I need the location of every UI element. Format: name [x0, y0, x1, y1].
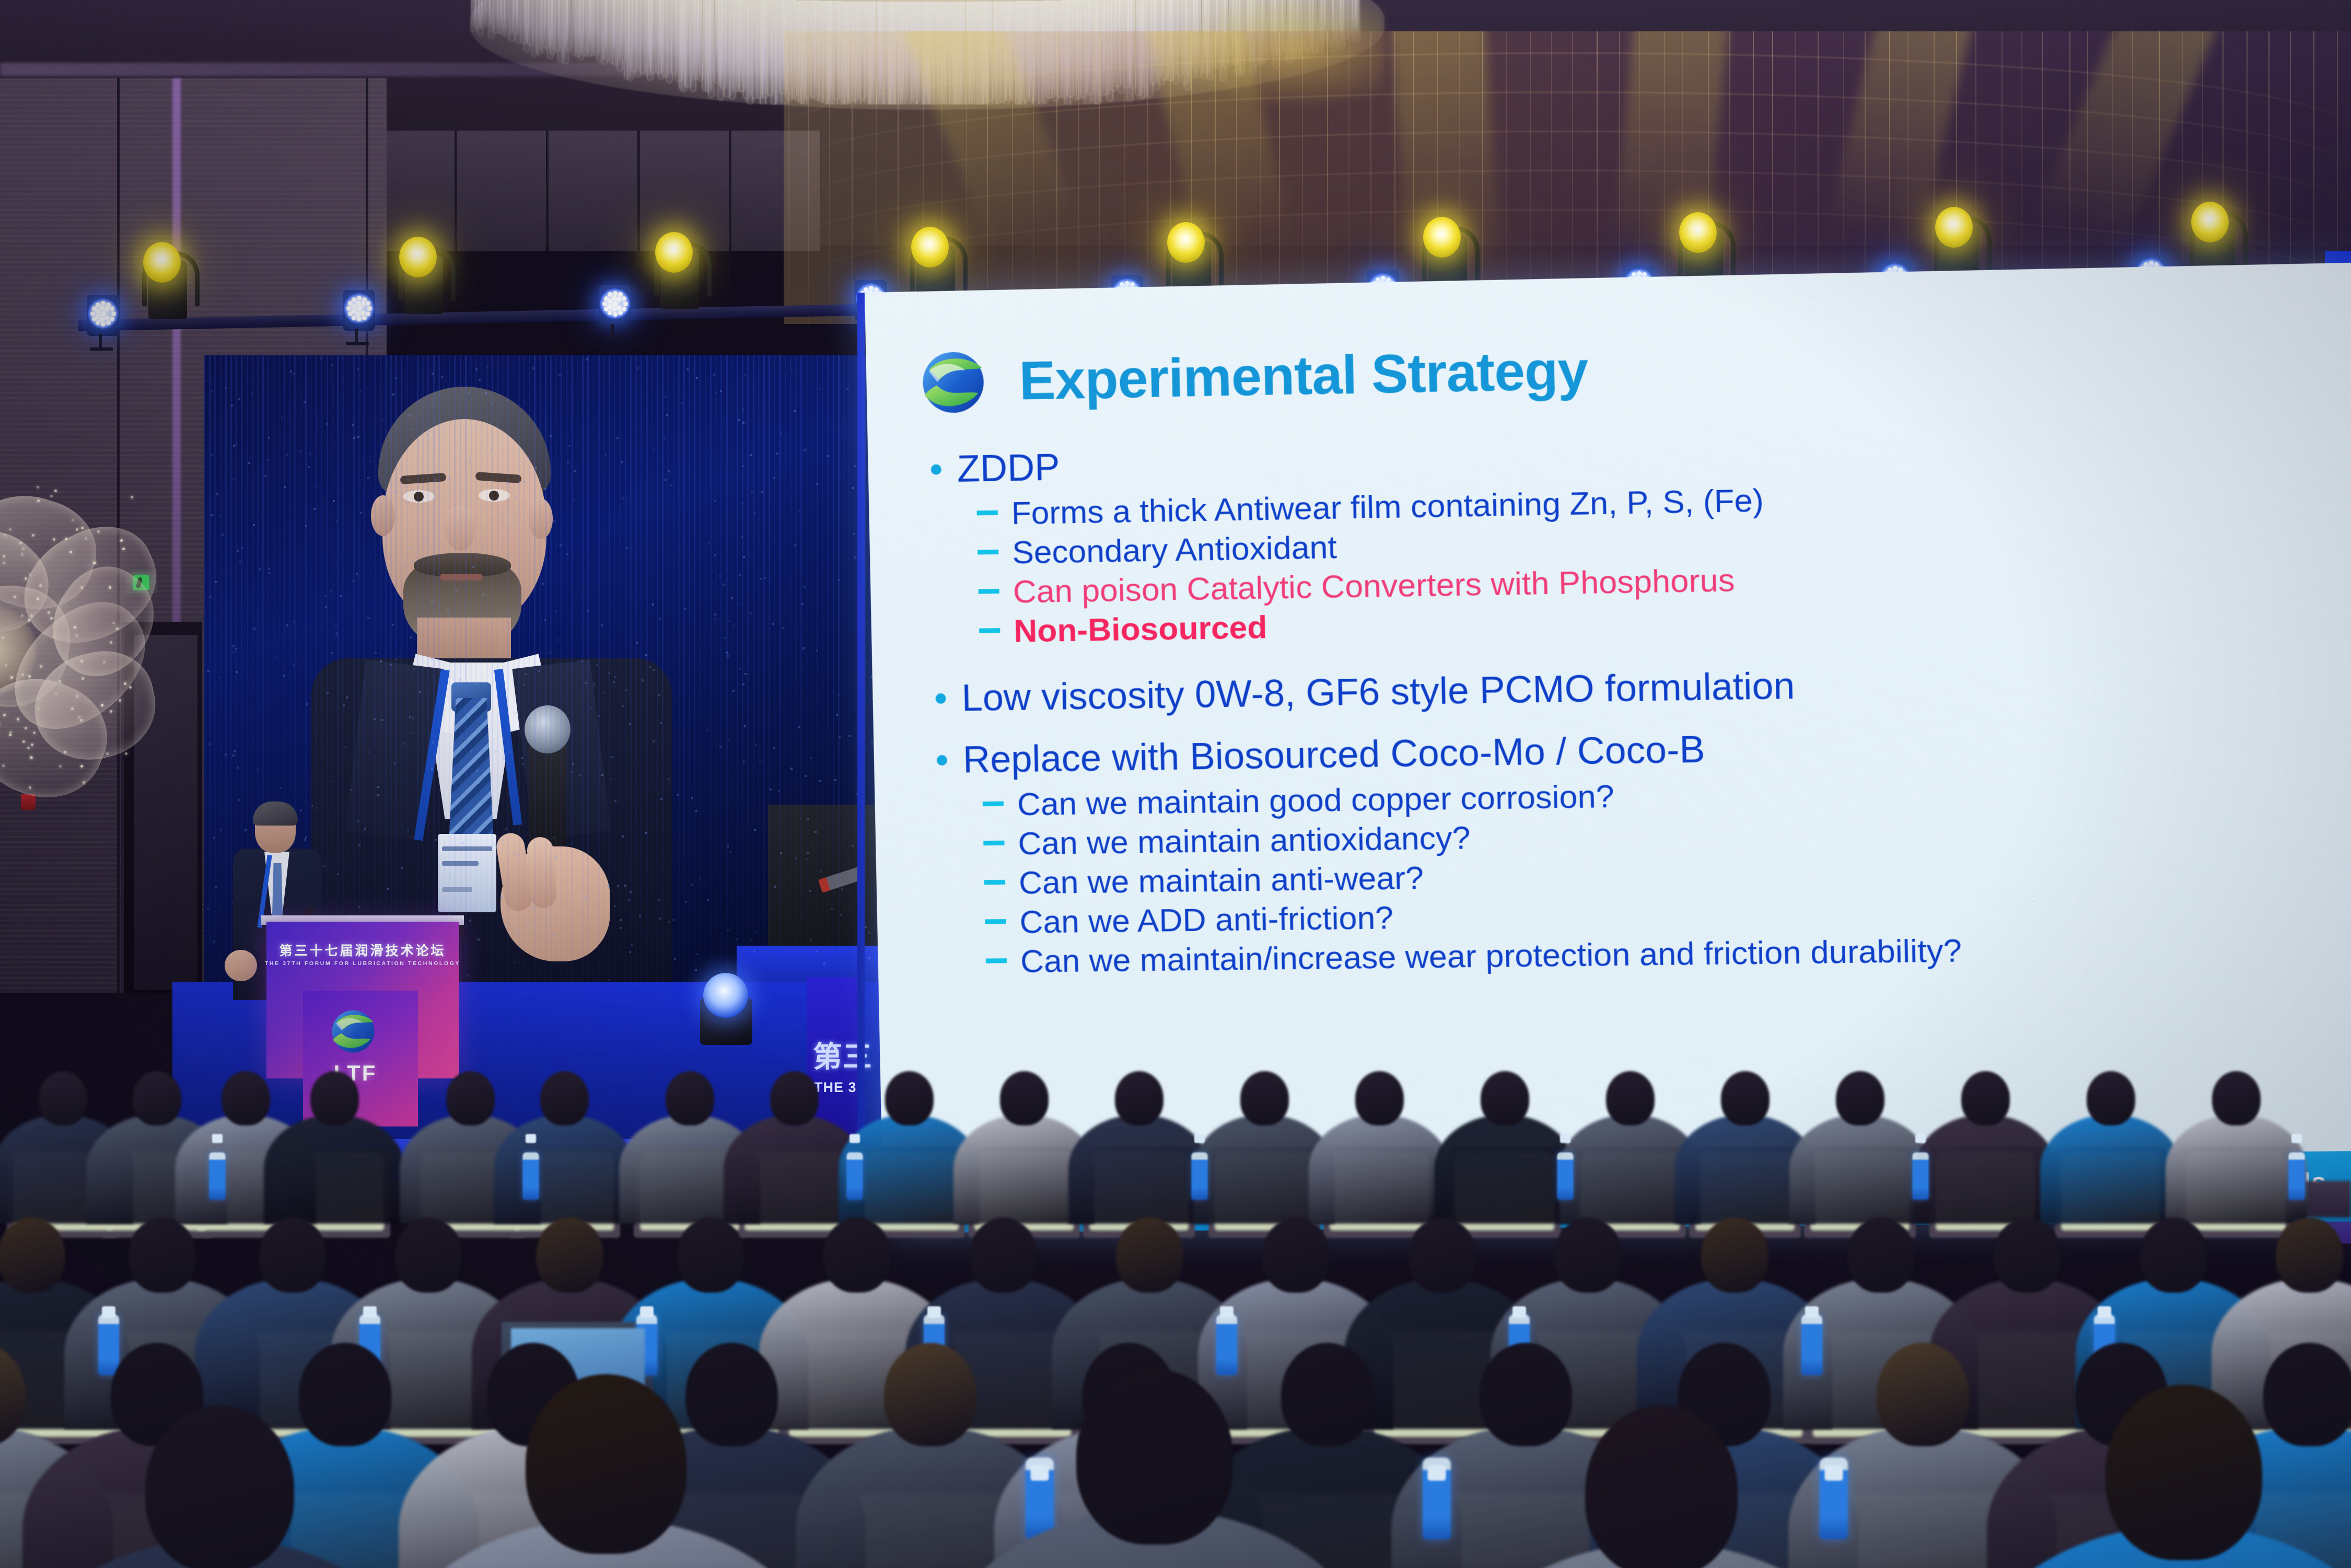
par-led	[360, 311, 365, 316]
led-pixel	[238, 398, 240, 400]
led-pixel	[511, 684, 513, 687]
led-pixel	[742, 409, 744, 411]
led-pixel	[439, 663, 441, 665]
led-pixel	[553, 520, 555, 522]
led-pixel	[838, 579, 840, 581]
led-pixel	[449, 529, 451, 531]
sconce-sparkle	[33, 731, 36, 734]
led-pixel	[636, 642, 638, 644]
led-pixel	[407, 829, 409, 831]
led-pixel	[670, 484, 672, 486]
led-pixel	[560, 544, 562, 547]
wall-slat	[0, 209, 387, 211]
led-pixel	[215, 886, 217, 888]
led-column	[662, 355, 664, 993]
led-pixel	[326, 423, 328, 425]
presenter-finger	[526, 836, 557, 909]
led-pixel	[532, 367, 534, 369]
led-pixel	[699, 877, 701, 879]
wall-slat	[0, 183, 387, 184]
led-column	[625, 355, 626, 993]
sconce-sparkle	[9, 528, 11, 531]
led-pixel	[798, 726, 800, 728]
led-pixel	[369, 456, 371, 458]
chandelier-crystal	[752, 0, 757, 98]
led-pixel	[780, 433, 782, 435]
led-column	[358, 355, 360, 993]
par-led	[604, 296, 609, 301]
wall-slat	[0, 204, 387, 205]
sconce-sparkle	[32, 534, 34, 537]
ltf-globe-logo	[918, 347, 988, 417]
led-pixel	[387, 888, 389, 890]
led-pixel	[760, 578, 762, 580]
par-led	[360, 302, 365, 307]
led-column	[481, 355, 482, 993]
led-column	[204, 355, 205, 993]
par-led	[352, 297, 356, 302]
led-pixel	[742, 465, 744, 467]
moving-head-spotlight	[141, 242, 191, 320]
audience-head	[1076, 1369, 1233, 1544]
led-pixel	[482, 545, 484, 548]
flower-light-sconce	[0, 486, 162, 810]
led-pixel	[374, 718, 376, 720]
led-pixel	[472, 566, 474, 568]
par-led	[96, 303, 100, 307]
sconce-sparkle	[129, 686, 132, 689]
slide-subbullet-text: Can we maintain anti-wear?	[1018, 860, 1424, 902]
led-column	[545, 355, 546, 993]
water-bottle	[1912, 1153, 1928, 1200]
led-pixel	[549, 863, 551, 865]
led-column	[651, 355, 653, 993]
led-pixel	[819, 388, 821, 390]
led-pixel	[375, 652, 377, 654]
wall-slat	[0, 256, 387, 258]
led-pixel	[386, 362, 388, 364]
led-pixel	[441, 909, 444, 911]
led-pixel	[509, 751, 511, 753]
led-pixel	[544, 619, 546, 621]
led-column	[747, 355, 749, 993]
led-pixel	[429, 430, 432, 432]
led-column	[534, 355, 536, 993]
ceiling-panel	[549, 131, 638, 251]
sconce-sparkle	[110, 641, 112, 644]
audience	[0, 1008, 2351, 1568]
led-pixel	[456, 867, 458, 869]
led-pixel	[555, 610, 557, 612]
led-pixel	[535, 467, 537, 469]
audience-head	[2212, 1071, 2261, 1125]
led-column	[726, 355, 728, 993]
led-pixel	[572, 763, 574, 765]
par-led	[1381, 276, 1386, 281]
led-pixel	[251, 392, 253, 394]
dash-icon	[979, 589, 999, 594]
led-pixel	[805, 775, 807, 777]
led-pixel	[388, 553, 390, 555]
led-pixel	[816, 950, 818, 953]
ceiling-panel	[457, 131, 547, 251]
led-column	[779, 355, 781, 993]
led-pixel	[462, 819, 464, 821]
sconce-sparkle	[22, 740, 25, 743]
led-column	[838, 355, 840, 993]
audience-shoulders	[2040, 1114, 2181, 1223]
led-pixel	[794, 410, 796, 412]
led-column	[720, 355, 722, 993]
audience-head	[666, 1071, 714, 1125]
wall-slat	[0, 141, 387, 143]
led-pixel	[469, 920, 471, 922]
chandelier-crystal	[532, 0, 537, 56]
led-pixel	[585, 897, 587, 899]
led-column	[641, 355, 642, 993]
led-pixel	[343, 704, 345, 706]
led-pixel	[625, 689, 627, 691]
led-pixel	[614, 905, 616, 907]
led-pixel	[739, 668, 741, 670]
bottle-cap	[927, 1306, 941, 1318]
led-pixel	[313, 486, 316, 488]
led-pixel	[248, 462, 250, 464]
led-pixel	[382, 419, 385, 421]
led-column	[497, 355, 498, 993]
led-pixel	[715, 392, 717, 394]
led-pixel	[494, 453, 496, 455]
led-pixel	[381, 719, 383, 721]
led-pixel	[426, 434, 428, 436]
chandelier-crystal	[504, 0, 509, 36]
podium-sign-en: THE 37TH FORUM FOR LUBRICATION TECHNOLOG…	[265, 960, 460, 967]
led-pixel	[614, 676, 616, 678]
wall-slat	[0, 157, 387, 158]
led-column	[854, 355, 855, 993]
led-pixel	[478, 782, 480, 784]
led-pixel	[727, 655, 729, 657]
slide-header: Experimental Strategy	[918, 307, 2282, 433]
led-pixel	[412, 560, 414, 562]
sconce-sparkle	[59, 765, 62, 768]
led-pixel	[344, 746, 346, 748]
led-pixel	[773, 747, 775, 749]
bottle-cap	[849, 1134, 860, 1143]
led-column	[364, 355, 365, 993]
led-pixel	[356, 573, 358, 575]
led-column	[353, 355, 355, 993]
speaker-hand	[225, 950, 257, 981]
audience-head	[1409, 1217, 1476, 1293]
led-pixel	[732, 690, 735, 692]
led-pixel	[518, 854, 520, 856]
led-pixel	[620, 919, 622, 921]
led-pixel	[235, 444, 237, 446]
chandelier-crystal	[725, 0, 730, 97]
led-pixel	[720, 390, 722, 392]
led-pixel	[674, 958, 676, 960]
led-pixel	[286, 454, 288, 456]
wall-slat	[0, 246, 387, 247]
led-pixel	[652, 603, 654, 606]
led-pixel	[412, 428, 414, 430]
led-pixel	[819, 780, 821, 782]
led-column	[225, 355, 227, 993]
audience-shoulders	[2166, 1114, 2307, 1223]
led-pixel	[456, 589, 458, 591]
led-pixel	[658, 899, 660, 901]
led-pixel	[723, 584, 725, 586]
led-pixel	[293, 664, 295, 666]
led-pixel	[590, 707, 592, 709]
sconce-sparkle	[17, 718, 19, 721]
led-column	[347, 355, 349, 993]
chandelier-crystal	[605, 0, 610, 60]
led-pixel	[281, 417, 283, 419]
led-pixel	[526, 925, 528, 927]
led-pixel	[213, 837, 215, 839]
led-pixel	[755, 744, 757, 746]
led-pixel	[431, 768, 433, 770]
led-pixel	[293, 621, 295, 623]
led-pixel	[587, 610, 589, 612]
led-pixel	[553, 837, 555, 839]
led-pixel	[571, 771, 573, 773]
audience-head	[2105, 1385, 2262, 1560]
led-pixel	[269, 572, 271, 574]
led-pixel	[573, 498, 575, 501]
led-column	[635, 355, 637, 993]
led-pixel	[681, 402, 683, 404]
led-pixel	[410, 636, 412, 638]
par-led	[1130, 282, 1135, 287]
par-led	[608, 310, 612, 315]
sconce-sparkle	[65, 538, 67, 540]
led-pixel	[691, 884, 693, 886]
chandelier-crystal	[763, 0, 767, 97]
led-column	[710, 355, 712, 993]
led-pixel	[754, 829, 756, 831]
audience-head	[685, 1343, 778, 1446]
led-pixel	[313, 508, 316, 510]
wall-slat	[0, 120, 387, 122]
microphone-head	[525, 705, 571, 753]
audience-head	[1585, 1406, 1738, 1568]
led-pixel	[613, 681, 615, 683]
sconce-sparkle	[27, 747, 30, 749]
chandelier-crystal	[566, 0, 571, 50]
sconce-sparkle	[37, 500, 40, 502]
led-pixel	[653, 449, 655, 451]
led-pixel	[215, 581, 217, 583]
bullet-dot-icon	[935, 693, 946, 704]
led-pixel	[809, 890, 811, 892]
audience-head	[1281, 1343, 1374, 1446]
led-pixel	[624, 885, 626, 887]
led-pixel	[380, 660, 382, 662]
led-column	[795, 355, 797, 993]
led-column	[737, 355, 738, 993]
chandelier-crystal	[641, 0, 645, 73]
led-pixel	[852, 845, 854, 847]
led-pixel	[707, 899, 709, 901]
led-pixel	[620, 927, 622, 929]
led-column	[540, 355, 541, 993]
sconce-sparkle	[48, 611, 50, 614]
led-column	[694, 355, 695, 993]
bullet-dot-icon	[937, 755, 947, 765]
led-pixel	[521, 503, 523, 505]
led-pixel	[608, 979, 610, 981]
led-column	[513, 355, 515, 993]
led-pixel	[852, 487, 854, 489]
led-pixel	[841, 888, 843, 890]
led-pixel	[617, 885, 619, 887]
audience-head	[823, 1217, 891, 1293]
audience-head	[770, 1071, 819, 1125]
led-pixel	[611, 756, 613, 758]
led-pixel	[528, 552, 530, 554]
led-pixel	[353, 437, 355, 439]
wall-slat	[0, 251, 387, 252]
led-pixel	[327, 692, 329, 694]
sconce-sparkle	[37, 707, 40, 710]
led-pixel	[320, 357, 322, 359]
audience-head	[299, 1343, 391, 1446]
audience-head	[129, 1217, 196, 1293]
sconce-sparkle	[97, 530, 100, 533]
led-pixel	[367, 477, 369, 479]
audience-shoulders	[1309, 1114, 1450, 1223]
led-pixel	[666, 414, 668, 416]
led-pixel	[231, 404, 233, 406]
led-pixel	[645, 654, 647, 656]
led-pixel	[447, 609, 449, 611]
led-pixel	[637, 367, 639, 369]
led-column	[518, 355, 520, 993]
led-pixel	[807, 852, 809, 854]
par-led	[2149, 261, 2154, 265]
led-column	[369, 355, 370, 993]
led-pixel	[330, 590, 332, 593]
led-pixel	[598, 715, 600, 717]
audience-head	[1480, 1343, 1572, 1446]
audience-head	[1994, 1217, 2061, 1293]
led-pixel	[755, 931, 758, 933]
sconce-sparkle	[75, 634, 78, 637]
led-pixel	[759, 760, 761, 762]
led-pixel	[364, 828, 366, 830]
slide-body: ZDDPForms a thick Antiwear film containi…	[930, 423, 2326, 1007]
audience-shoulders	[1915, 1114, 2056, 1223]
led-pixel	[629, 951, 631, 953]
led-pixel	[585, 682, 587, 684]
wall-slat	[0, 308, 387, 310]
dash-icon	[979, 628, 1000, 633]
led-pixel	[340, 595, 342, 597]
led-column	[486, 355, 488, 993]
led-column	[454, 355, 456, 993]
led-pixel	[412, 717, 414, 719]
led-pixel	[544, 488, 546, 490]
led-pixel	[567, 461, 569, 463]
led-pixel	[476, 556, 479, 558]
led-pixel	[308, 466, 310, 468]
led-pixel	[237, 766, 239, 769]
sconce-sparkle	[4, 534, 6, 537]
led-pixel	[515, 496, 517, 498]
led-column	[833, 355, 834, 993]
led-pixel	[479, 379, 481, 381]
sconce-sparkle	[50, 495, 53, 497]
dash-icon	[977, 550, 998, 555]
led-pixel	[596, 664, 598, 666]
led-column	[630, 355, 632, 993]
wall-slat	[0, 125, 387, 127]
led-pixel	[686, 368, 689, 370]
led-column	[507, 355, 509, 993]
led-pixel	[482, 594, 484, 596]
led-pixel	[241, 547, 243, 549]
wall-slat	[0, 110, 387, 111]
led-column	[566, 355, 568, 993]
wall-slat	[0, 340, 387, 341]
led-pixel	[232, 645, 235, 647]
led-pixel	[393, 491, 395, 493]
par-led	[362, 316, 367, 320]
par-led	[357, 296, 362, 300]
led-pixel	[410, 732, 412, 734]
led-pixel	[377, 786, 379, 788]
audience-head	[133, 1071, 181, 1125]
led-pixel	[736, 938, 738, 940]
led-pixel	[601, 774, 603, 776]
speaker-hair	[253, 802, 298, 826]
led-pixel	[419, 691, 421, 693]
led-pixel	[750, 454, 752, 456]
led-pixel	[630, 891, 632, 893]
par-led	[357, 317, 362, 321]
led-pixel	[744, 725, 746, 727]
led-pixel	[293, 373, 295, 375]
led-column	[401, 355, 402, 993]
led-column	[529, 355, 530, 993]
led-pixel	[814, 831, 817, 833]
slide-subbullet-text: Secondary Antioxidant	[1012, 529, 1337, 572]
led-pixel	[664, 437, 666, 439]
led-pixel	[485, 392, 487, 394]
led-pixel	[668, 778, 670, 780]
led-pixel	[495, 844, 497, 846]
led-pixel	[601, 624, 603, 626]
led-pixel	[330, 780, 332, 782]
led-pixel	[309, 452, 311, 455]
audience-head	[1116, 1217, 1183, 1293]
led-pixel	[267, 459, 269, 461]
led-pixel	[706, 729, 708, 731]
led-pixel	[257, 769, 259, 771]
bottle-cap	[1030, 1466, 1049, 1481]
led-pixel	[631, 944, 633, 946]
led-pixel	[409, 414, 411, 416]
led-pixel	[761, 491, 763, 493]
led-column	[577, 355, 578, 993]
wall-slat	[0, 89, 387, 90]
led-pixel	[580, 660, 583, 662]
slide-title: Experimental Strategy	[1019, 339, 1589, 412]
wall-slat	[0, 136, 387, 137]
